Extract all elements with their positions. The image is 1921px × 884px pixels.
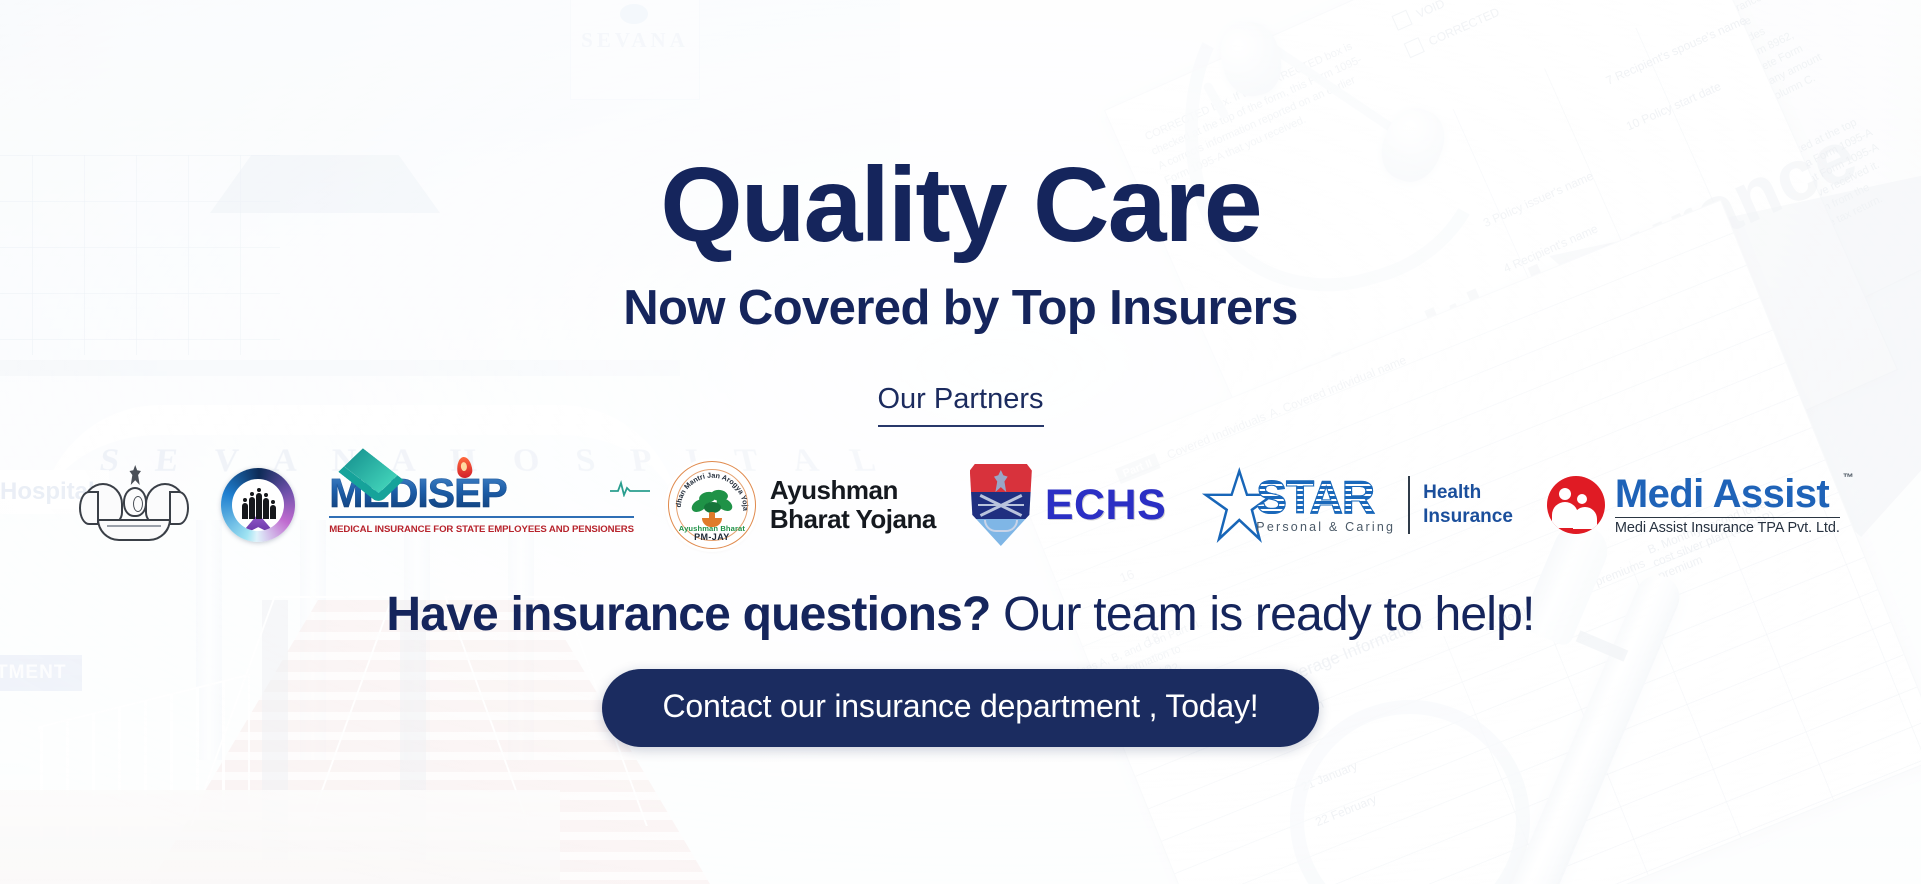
ayushman-title-line1: Ayushman: [770, 476, 936, 505]
people-circle-icon: [221, 468, 295, 542]
partners-section-label: Our Partners: [878, 383, 1044, 427]
partner-logo-kerala-emblem[interactable]: [81, 459, 187, 551]
figure: [256, 493, 262, 519]
figure: [249, 497, 255, 519]
star-divider: [1408, 476, 1410, 534]
medisep-wordmark-row: MEDISEP: [329, 475, 634, 513]
page-subtitle: Now Covered by Top Insurers: [623, 284, 1297, 333]
echs-wordmark: ECHS: [1045, 481, 1166, 530]
partner-logo-ayushman-bharat[interactable]: Pradhan Mantri Jan Arogya Yojana Ayushma…: [668, 459, 936, 551]
banner-content: Quality Care Now Covered by Top Insurers…: [0, 0, 1921, 884]
cta-heading-bold: Have insurance questions?: [386, 588, 990, 641]
figure: [270, 505, 276, 519]
partner-logo-medisep[interactable]: MEDISEP MEDICAL INSURANCE FOR STATE EMPL…: [329, 459, 634, 551]
conch-shell-icon: [123, 487, 147, 517]
ayushman-title: Ayushman Bharat Yojana: [770, 476, 936, 533]
cta-heading: Have insurance questions? Our team is re…: [386, 591, 1534, 639]
pmjay-seal-icon: Pradhan Mantri Jan Arogya Yojana Ayushma…: [668, 461, 756, 549]
figure-body: [1573, 507, 1597, 529]
people-circle-inner: [232, 479, 284, 531]
medi-assist-divider: [1615, 517, 1840, 519]
page-title: Quality Care: [660, 152, 1260, 258]
star-text-block: STAR Personal & Caring: [1256, 476, 1395, 535]
medisep-lockup: MEDISEP MEDICAL INSURANCE FOR STATE EMPL…: [329, 475, 634, 535]
ayushman-title-line2: Bharat Yojana: [770, 505, 936, 534]
kerala-emblem-icon: [81, 465, 187, 545]
medi-assist-wordmark: Medi Assist: [1615, 474, 1840, 514]
crossed-weapons-icon: [978, 494, 1024, 516]
figure-head: [1577, 494, 1587, 504]
emblem-scroll-base: [97, 519, 171, 541]
medisep-tagline: MEDICAL INSURANCE FOR STATE EMPLOYEES AN…: [329, 524, 634, 535]
partner-logo-echs[interactable]: ECHS: [970, 459, 1166, 551]
partner-logo-star-health[interactable]: STAR Personal & Caring Health Insurance: [1200, 459, 1513, 551]
star-suffix: Health Insurance: [1423, 481, 1513, 529]
trademark-symbol: ™: [1843, 472, 1854, 484]
ashoka-emblem-icon: [127, 465, 143, 485]
figure: [242, 503, 248, 519]
medi-assist-text-block: Medi Assist ™ Medi Assist Insurance TPA …: [1615, 474, 1840, 537]
medisep-divider: [329, 516, 634, 518]
star-suffix-line1: Health: [1423, 481, 1513, 505]
medi-assist-people-icon: [1547, 476, 1605, 534]
medi-assist-subtitle: Medi Assist Insurance TPA Pvt. Ltd.: [1615, 520, 1840, 536]
star-wordmark: STAR: [1256, 476, 1395, 520]
cta-heading-light: Our team is ready to help!: [991, 588, 1535, 641]
star-tagline: Personal & Caring: [1256, 520, 1395, 534]
figure: [263, 498, 269, 519]
family-figures-icon: [242, 493, 276, 519]
figure-head: [1559, 488, 1571, 500]
insurance-promo-banner: S E V A N A H O S P I T A L Hospital SEV…: [0, 0, 1921, 884]
heartbeat-wave-icon: [610, 479, 650, 497]
pmjay-abbreviation: PM-JAY: [669, 532, 755, 542]
echs-shield-icon: [970, 464, 1032, 546]
partner-logo-medisep-circle[interactable]: [221, 459, 295, 551]
partner-logo-medi-assist[interactable]: Medi Assist ™ Medi Assist Insurance TPA …: [1547, 459, 1840, 551]
star-suffix-line2: Insurance: [1423, 505, 1513, 529]
partner-logo-strip: MEDISEP MEDICAL INSURANCE FOR STATE EMPL…: [81, 459, 1840, 551]
contact-insurance-department-button[interactable]: Contact our insurance department , Today…: [602, 669, 1318, 747]
